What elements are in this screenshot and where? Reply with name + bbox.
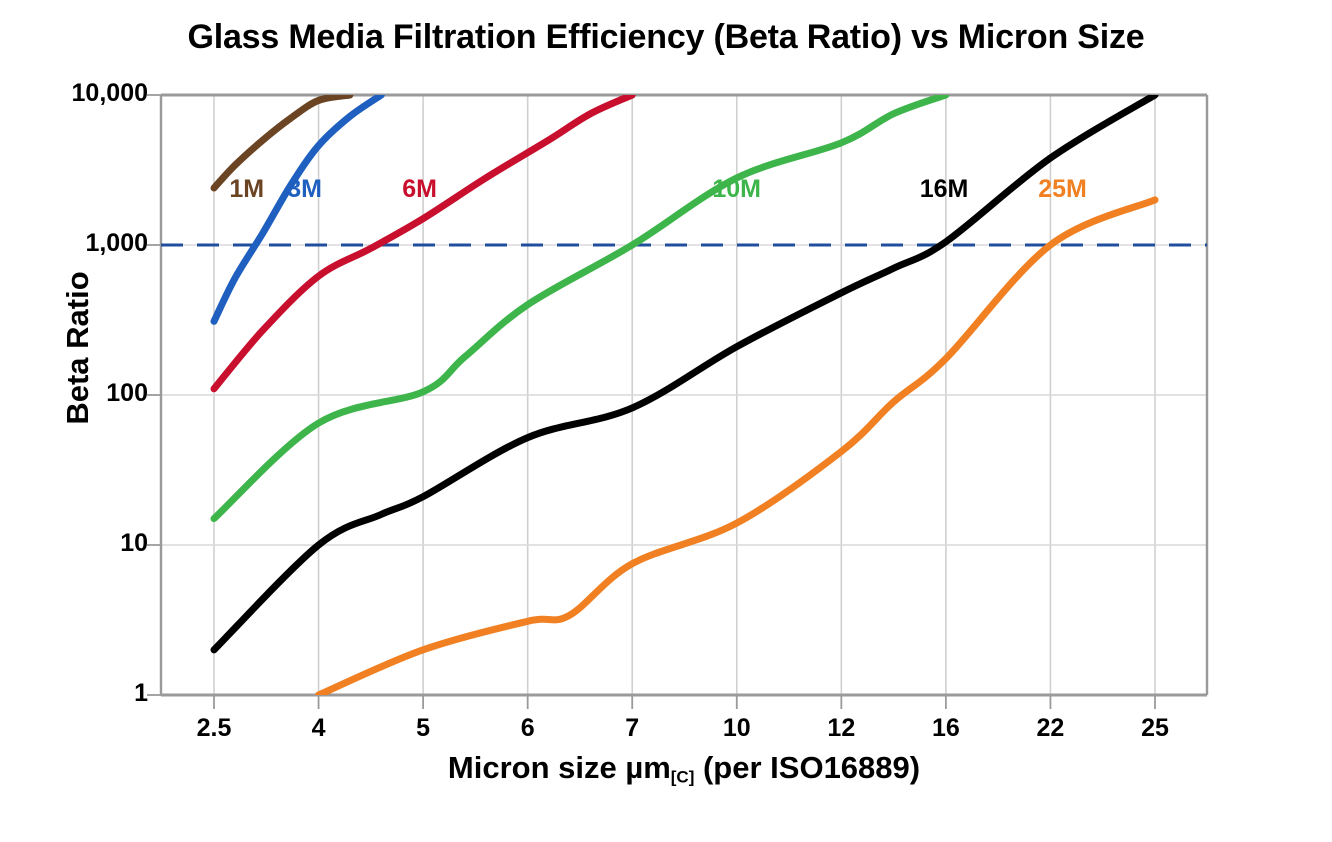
y-axis-title: Beta Ratio xyxy=(60,218,96,478)
x-tick-label: 25 xyxy=(1110,714,1200,743)
x-tick-label: 22 xyxy=(1005,714,1095,743)
x-tick-label: 12 xyxy=(796,714,886,743)
series-label-6m: 6M xyxy=(402,175,437,204)
x-tick-label: 4 xyxy=(274,714,364,743)
x-tick-label: 16 xyxy=(901,714,991,743)
x-axis-title-main: Micron size µm xyxy=(448,750,671,785)
series-label-25m: 25M xyxy=(1038,175,1087,204)
x-tick-label: 7 xyxy=(587,714,677,743)
series-label-3m: 3M xyxy=(287,175,322,204)
x-tick-label: 10 xyxy=(692,714,782,743)
series-line-3m xyxy=(214,95,381,321)
x-tick-label: 5 xyxy=(378,714,468,743)
chart-container: Glass Media Filtration Efficiency (Beta … xyxy=(0,0,1332,842)
x-axis-title-suffix: (per ISO16889) xyxy=(694,750,920,785)
series-label-1m: 1M xyxy=(229,175,264,204)
y-tick-label: 10,000 xyxy=(38,79,148,108)
y-tick-label: 10 xyxy=(38,529,148,558)
y-tick-label: 1 xyxy=(38,679,148,708)
series-label-16m: 16M xyxy=(920,175,969,204)
x-tick-label: 6 xyxy=(483,714,573,743)
x-axis-title-subscript: [C] xyxy=(671,767,695,786)
x-axis-title: Micron size µm[C] (per ISO16889) xyxy=(161,750,1207,787)
series-label-10m: 10M xyxy=(712,175,761,204)
series-line-16m xyxy=(214,95,1155,650)
x-tick-label: 2.5 xyxy=(169,714,259,743)
